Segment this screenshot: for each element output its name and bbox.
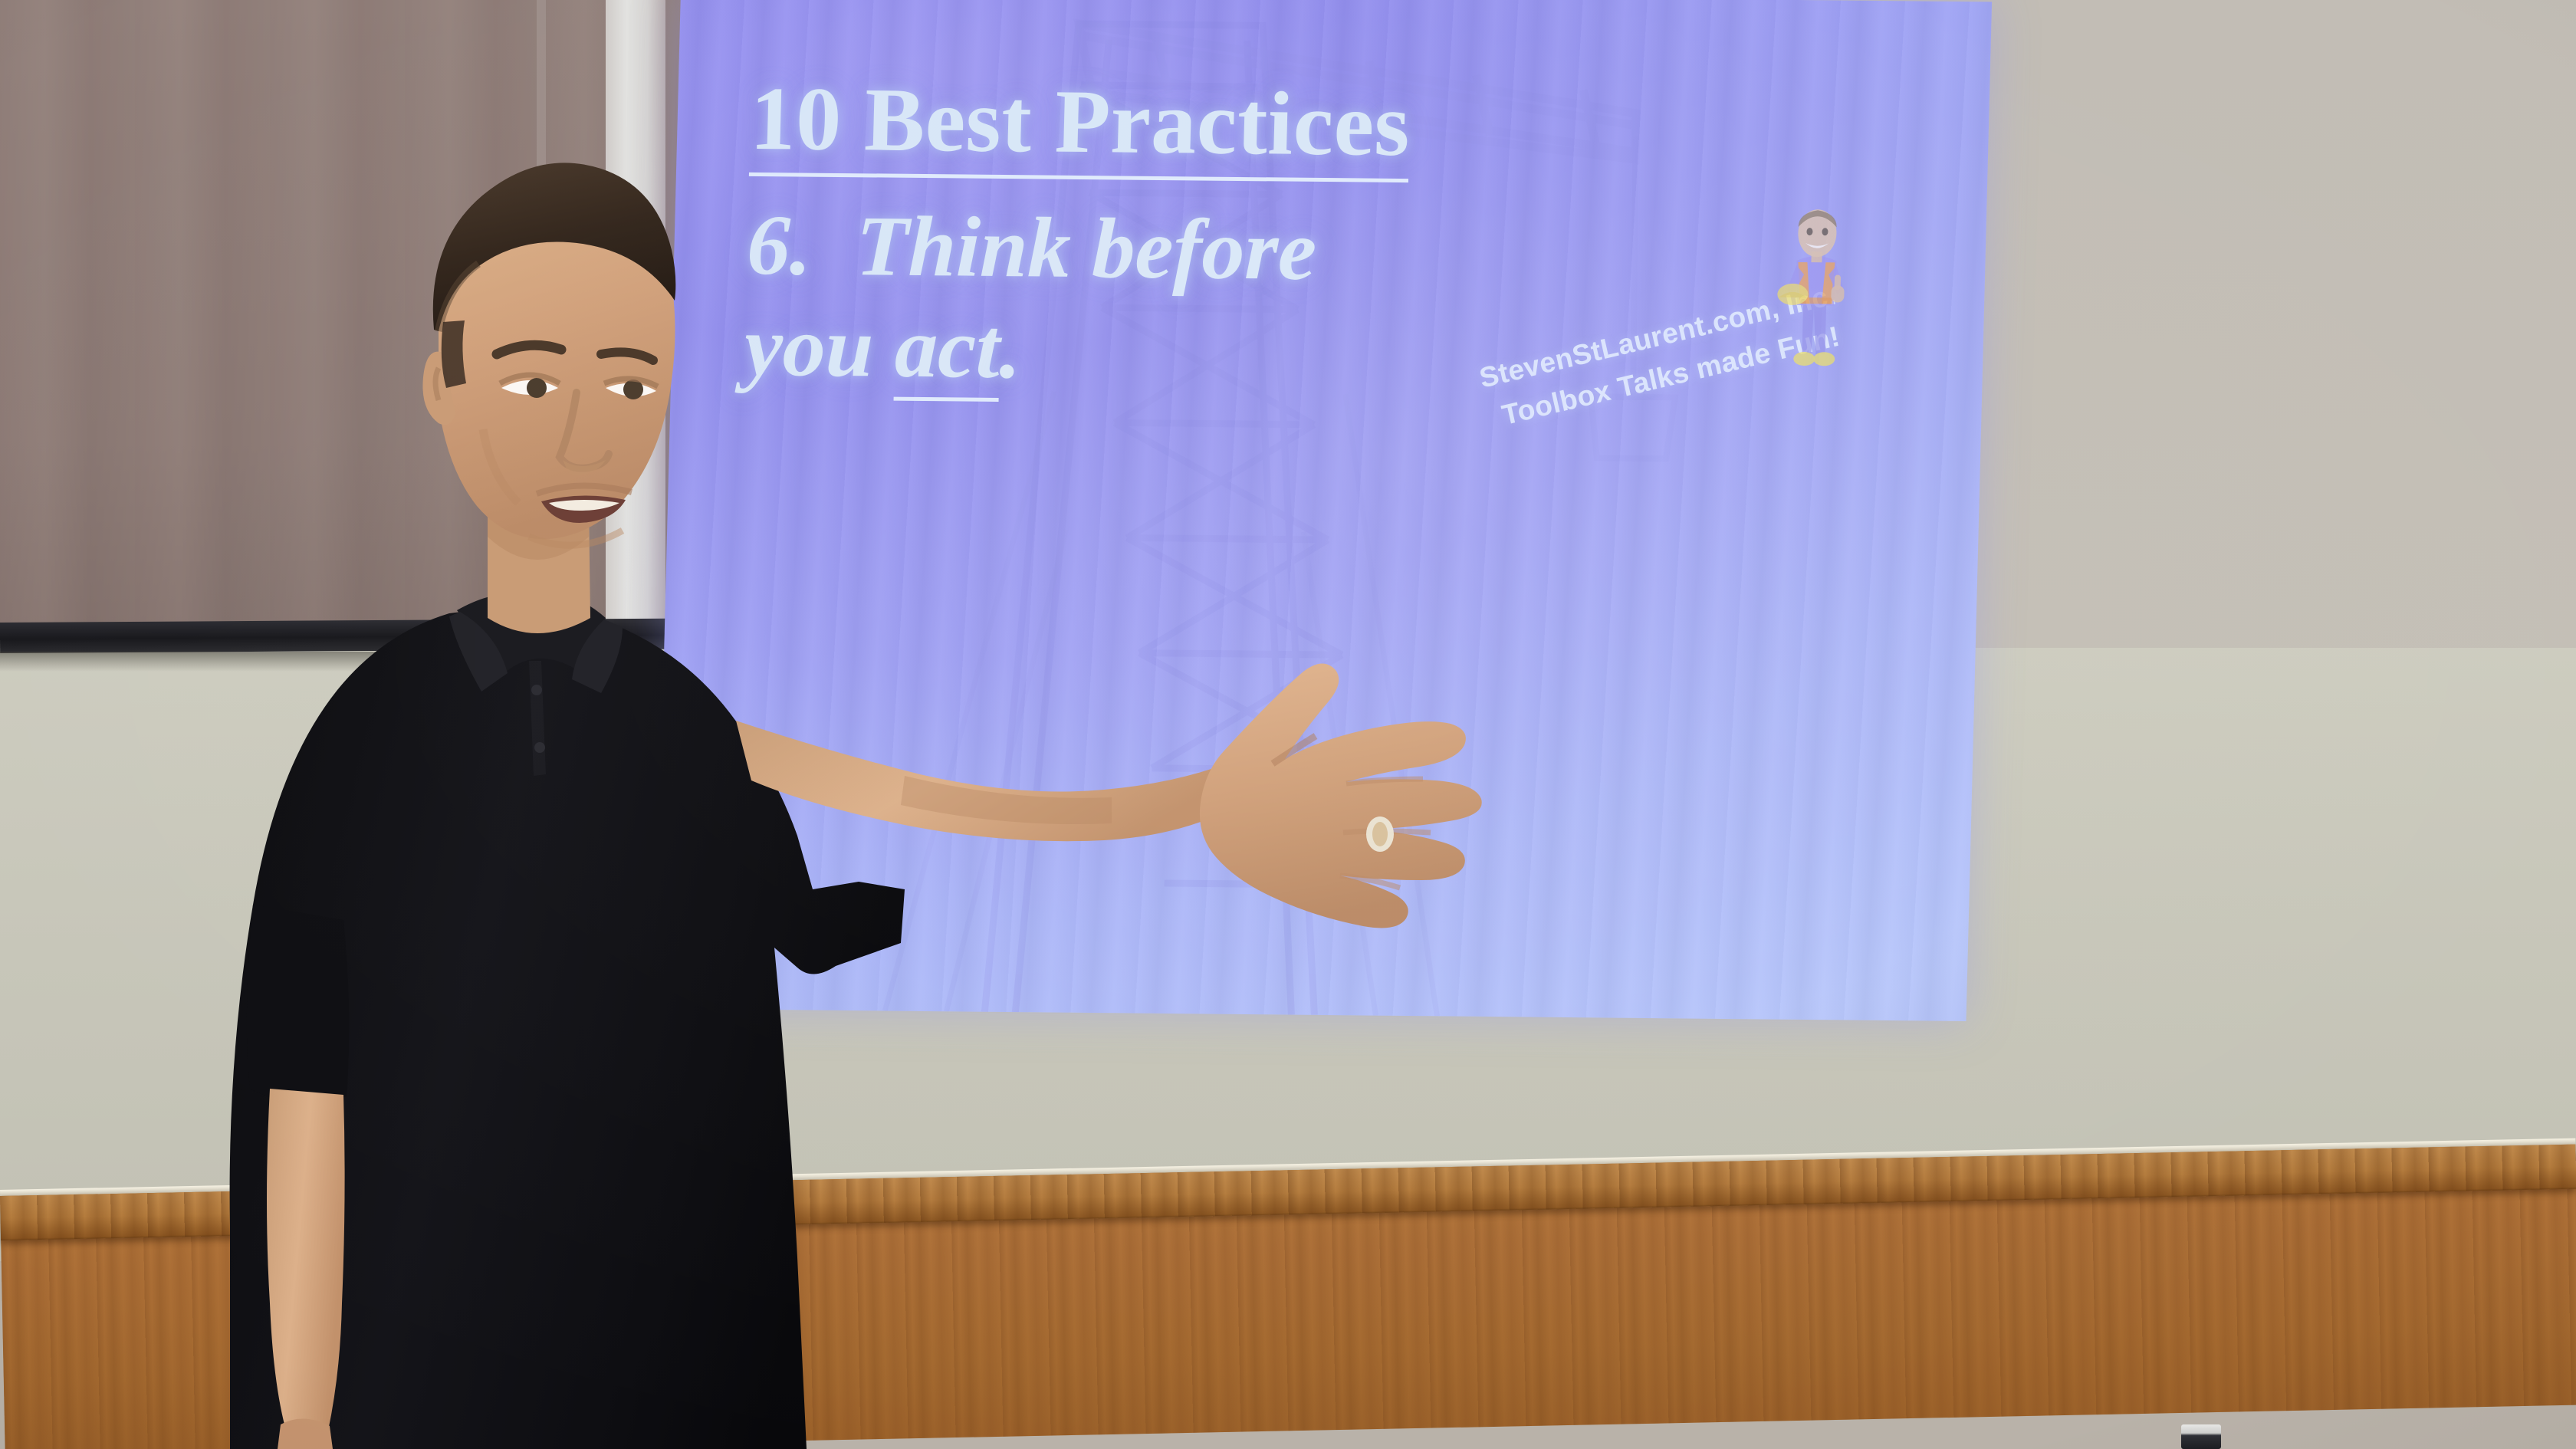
blind-slat-highlight <box>606 0 665 629</box>
slide-item-text2-underlined: act <box>894 301 1001 402</box>
projected-slide: 10 Best Practices 6.Think before you act… <box>655 0 1992 1021</box>
slide-item-text2-post: . <box>999 301 1023 396</box>
dark-valance-bar <box>0 618 694 653</box>
vertical-blinds <box>0 0 686 629</box>
slide-item-text2-pre: you <box>744 299 896 396</box>
blind-slat-edge <box>537 0 546 629</box>
slide-title: 10 Best Practices <box>749 73 1411 183</box>
slide-item-number: 6. <box>746 198 813 294</box>
valance-shadow <box>0 652 694 672</box>
slide-title-row: 10 Best Practices <box>749 73 1841 187</box>
slide-item-line1: 6.Think before <box>746 196 1837 306</box>
small-floor-object <box>2181 1424 2221 1449</box>
slide-item-text1: Think before <box>855 199 1318 299</box>
screenshot-root: 10 Best Practices 6.Think before you act… <box>0 0 2576 1449</box>
construction-worker-thumbs-up-icon <box>1768 201 1865 378</box>
